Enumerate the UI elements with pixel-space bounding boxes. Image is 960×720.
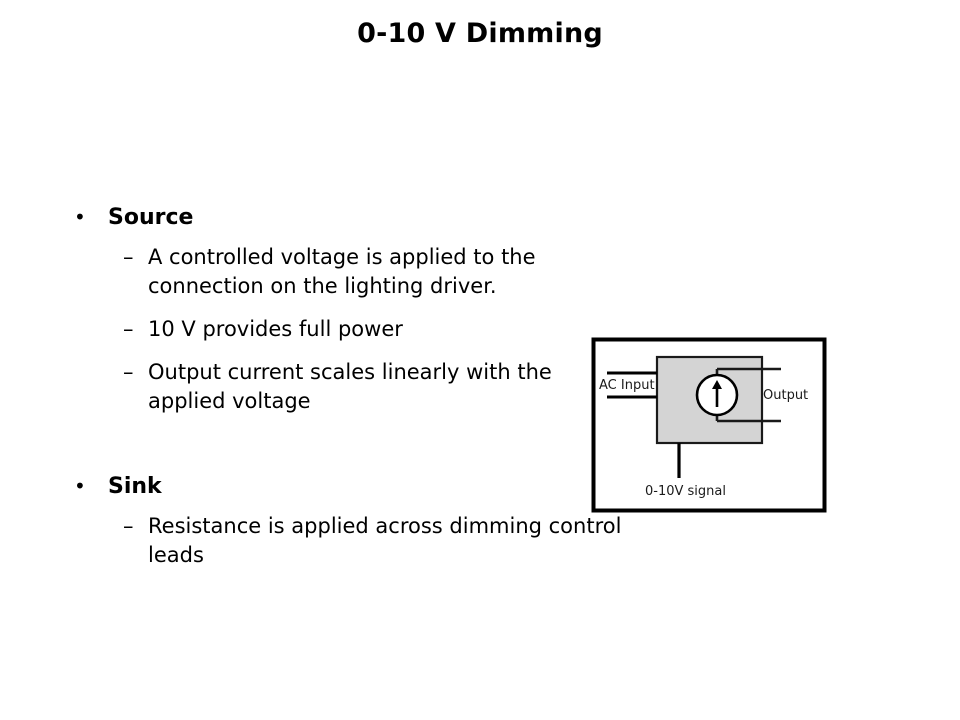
ac-input-label: AC Input <box>599 378 655 393</box>
slide-content: • Source – A controlled voltage is appli… <box>68 203 628 584</box>
bullet-group-source: • Source – A controlled voltage is appli… <box>68 203 628 416</box>
sub-bullet-text: Resistance is applied across dimming con… <box>148 512 628 570</box>
output-label: Output <box>763 388 808 403</box>
section-spacer <box>68 430 628 472</box>
sub-bullet-text: 10 V provides full power <box>148 315 628 344</box>
sub-bullet-text: A controlled voltage is applied to the c… <box>148 243 628 301</box>
bullet-group-sink: • Sink – Resistance is applied across di… <box>68 472 628 570</box>
dash-marker-icon: – <box>123 315 134 344</box>
sub-bullet-output-current: – Output current scales linearly with th… <box>68 358 628 416</box>
sub-bullet-full-power: – 10 V provides full power <box>68 315 628 344</box>
bullet-sink-label: Sink <box>108 474 162 499</box>
signal-label: 0-10V signal <box>645 484 726 499</box>
sub-bullet-text: Output current scales linearly with the … <box>148 358 628 416</box>
dash-marker-icon: – <box>123 243 134 272</box>
bullet-sink: • Sink <box>68 472 628 502</box>
driver-circuit-diagram: AC Input Output 0-10V signal <box>591 337 827 513</box>
dash-marker-icon: – <box>123 512 134 541</box>
bullet-source-label: Source <box>108 205 193 230</box>
bullet-dot-icon: • <box>74 202 86 232</box>
bullet-dot-icon: • <box>74 471 86 501</box>
sub-bullet-resistance: – Resistance is applied across dimming c… <box>68 512 628 570</box>
page-title: 0-10 V Dimming <box>0 18 960 49</box>
dash-marker-icon: – <box>123 358 134 387</box>
sub-bullet-controlled-voltage: – A controlled voltage is applied to the… <box>68 243 628 301</box>
bullet-source: • Source <box>68 203 628 233</box>
